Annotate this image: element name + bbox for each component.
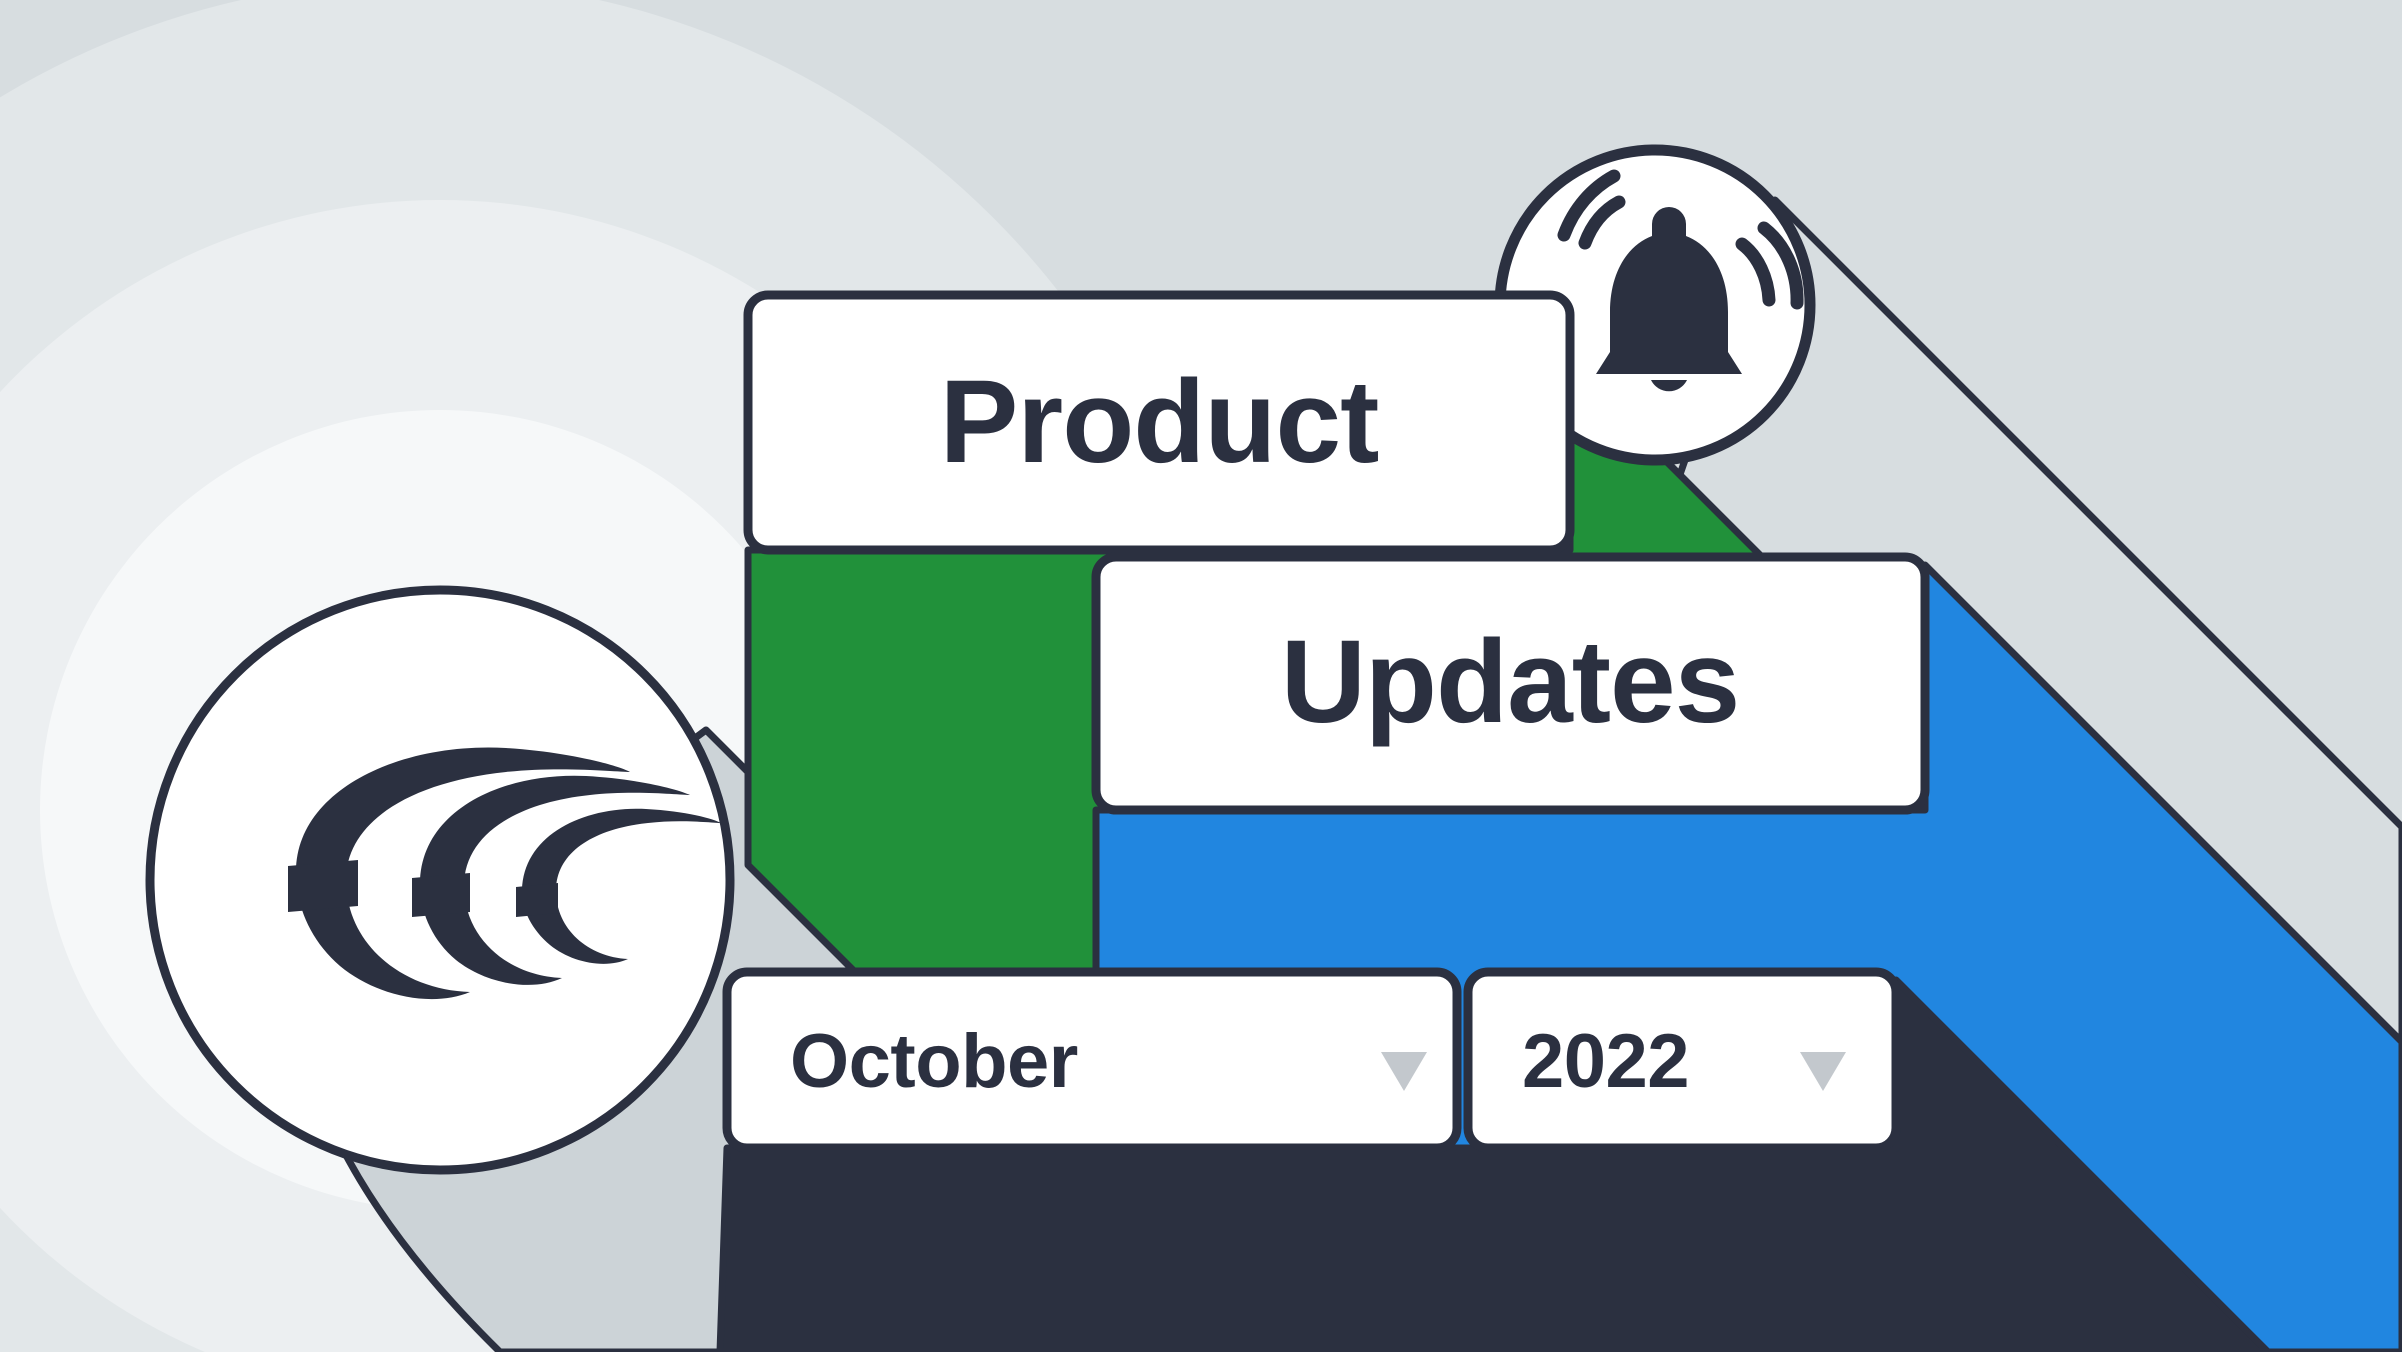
product-title-card: Product bbox=[748, 295, 1570, 550]
product-updates-banner: Product Updates October 2022 bbox=[0, 0, 2402, 1352]
year-dropdown-value: 2022 bbox=[1522, 1019, 1689, 1104]
updates-title-label: Updates bbox=[1281, 616, 1740, 748]
updates-title-card: Updates bbox=[1096, 557, 1925, 810]
cards-layer: Product Updates October 2022 bbox=[0, 0, 2402, 1352]
month-dropdown[interactable]: October bbox=[727, 972, 1457, 1148]
year-dropdown[interactable]: 2022 bbox=[1468, 972, 1896, 1148]
month-dropdown-value: October bbox=[790, 1019, 1078, 1104]
product-title-label: Product bbox=[940, 356, 1379, 488]
